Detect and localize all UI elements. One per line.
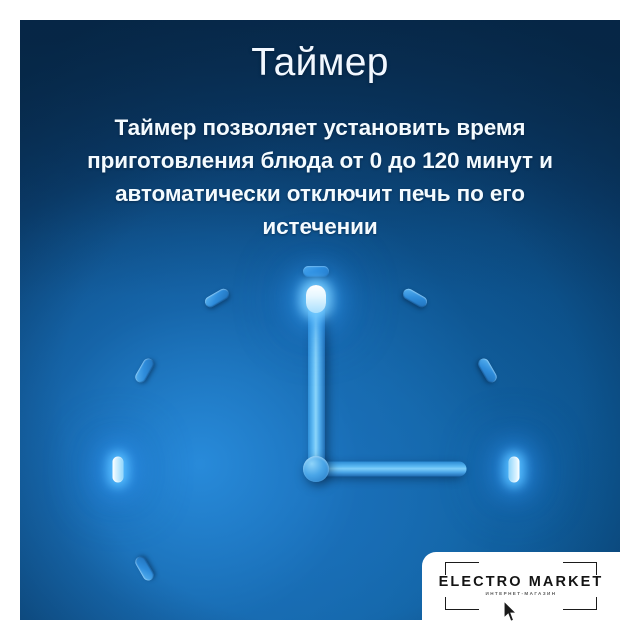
- clock-tick-9: [113, 456, 124, 482]
- logo-wordmark: ELECTRO MARKET: [439, 575, 604, 590]
- mouse-cursor-icon: [503, 601, 518, 628]
- slide-image: Таймер Таймер позволяет установить время…: [0, 0, 640, 640]
- bracket-corner-top-right-icon: [563, 562, 597, 575]
- watermark-logo-card: ELECTRO MARKET ИНТЕРНЕТ-МАГАЗИН: [422, 552, 620, 620]
- bracket-corner-bottom-left-icon: [445, 597, 479, 610]
- bracket-corner-bottom-right-icon: [563, 597, 597, 610]
- text-block: Таймер Таймер позволяет установить время…: [20, 20, 620, 243]
- clock-tick-8: [133, 554, 156, 582]
- clock-tick-3: [509, 456, 520, 482]
- clock-tick-12: [303, 266, 329, 277]
- clock-minute-hand: [308, 289, 325, 469]
- slide-panel: Таймер Таймер позволяет установить время…: [20, 20, 620, 620]
- logo-tagline: ИНТЕРНЕТ-МАГАЗИН: [486, 592, 557, 596]
- clock-tick-11: [203, 286, 231, 309]
- clock-tick-1: [401, 286, 429, 309]
- description-text: Таймер позволяет установить время пригот…: [68, 111, 573, 243]
- bracket-corner-top-left-icon: [445, 562, 479, 575]
- clock-center-hub: [303, 456, 329, 482]
- page-title: Таймер: [20, 42, 620, 85]
- logo-bracket-frame: ELECTRO MARKET ИНТЕРНЕТ-МАГАЗИН: [445, 562, 597, 610]
- clock-hour-hand: [316, 462, 466, 477]
- clock-tick-10: [133, 356, 156, 384]
- clock-tick-2: [476, 356, 499, 384]
- clock-minute-hand-glow-tip: [306, 285, 326, 313]
